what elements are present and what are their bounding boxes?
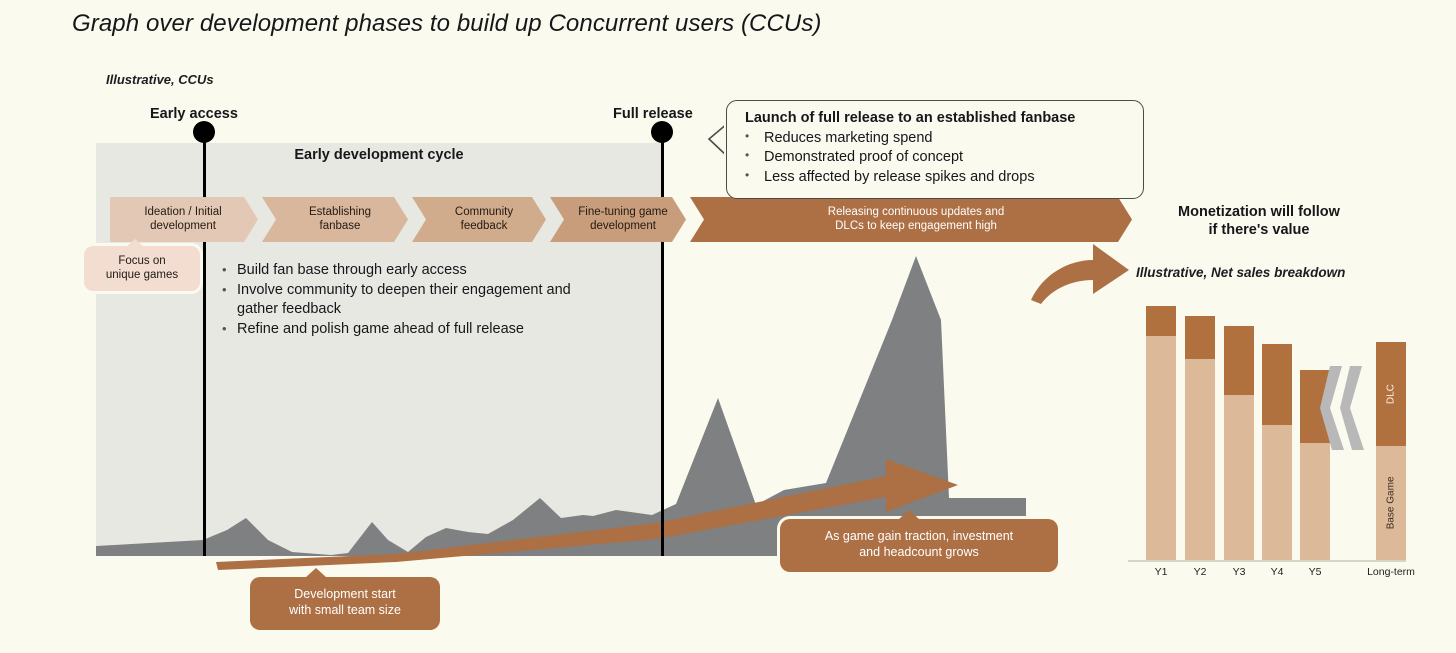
bullet-text: Less affected by release spikes and drop… <box>764 168 1035 187</box>
bar-segment-base-game: Base Game <box>1376 446 1406 560</box>
early-access-marker-dot <box>193 121 215 143</box>
launch-callout-header: Launch of full release to an established… <box>745 110 1129 126</box>
callout-line2: and headcount grows <box>859 545 979 559</box>
bar-segment-dlc <box>1185 316 1215 359</box>
phase-chevron-community-feedback[interactable]: Community feedback <box>412 197 546 242</box>
phase-label-line1: Releasing continuous updates and <box>828 206 1004 218</box>
phase-chevron-ideation[interactable]: Ideation / Initial development <box>110 197 258 242</box>
phase-label-line2: fanbase <box>320 220 361 232</box>
bar-y3 <box>1224 326 1254 560</box>
slide-canvas: Graph over development phases to build u… <box>0 0 1456 653</box>
bullet-text: Demonstrated proof of concept <box>764 148 963 167</box>
bar-y2 <box>1185 316 1215 560</box>
bullet-text: Refine and polish game ahead of full rel… <box>237 320 524 339</box>
phase-chevron-fine-tuning[interactable]: Fine-tuning game development <box>550 197 686 242</box>
list-item: • Reduces marketing spend <box>745 129 1129 148</box>
curved-arrow-icon <box>1025 238 1135 306</box>
bullet-text: Build fan base through early access <box>237 261 467 280</box>
bullet-dot-icon: • <box>745 129 764 148</box>
bar-segment-label-base-game: Base Game <box>1376 446 1406 560</box>
page-title: Graph over development phases to build u… <box>72 10 822 38</box>
development-bullet-list: • Build fan base through early access • … <box>222 261 602 341</box>
ccu-area-path-preaccess <box>96 540 203 556</box>
speech-bubble-tail <box>706 122 728 158</box>
early-development-cycle-label: Early development cycle <box>96 147 662 163</box>
phase-label-line1: Community <box>455 206 513 218</box>
list-item: • Demonstrated proof of concept <box>745 148 1129 167</box>
callout-line1: As game gain traction, investment <box>825 529 1013 543</box>
focus-callout-line1: Focus on <box>118 255 165 267</box>
bullet-dot-icon: • <box>745 168 764 187</box>
traction-investment-callout: As game gain traction, investment and he… <box>780 519 1058 572</box>
bar-y4 <box>1262 344 1292 560</box>
ccu-chart-subtitle: Illustrative, CCUs <box>106 72 214 87</box>
phase-label-line2: feedback <box>461 220 508 232</box>
monetization-title-line1: Monetization will follow <box>1178 204 1340 220</box>
bullet-dot-icon: • <box>745 148 764 167</box>
bar-y1 <box>1146 306 1176 560</box>
early-access-label: Early access <box>150 106 238 122</box>
callout-line1: Development start <box>294 587 395 601</box>
phase-chevron-row: Ideation / Initial development Establish… <box>110 197 1136 242</box>
bar-segment-base-game <box>1224 395 1254 560</box>
net-sales-bar-chart: DLCBase Game <box>1128 300 1406 560</box>
bar-segment-base-game <box>1185 359 1215 560</box>
bar-segment-dlc <box>1262 344 1292 425</box>
callout-line2: with small team size <box>289 603 401 617</box>
monetization-title-line2: if there's value <box>1209 222 1310 238</box>
list-item: • Less affected by release spikes and dr… <box>745 168 1129 187</box>
bar-segment-label-dlc: DLC <box>1376 342 1406 446</box>
list-item: • Refine and polish game ahead of full r… <box>222 320 602 339</box>
development-start-callout: Development start with small team size <box>250 577 440 630</box>
bar-segment-dlc <box>1146 306 1176 336</box>
phase-label-line1: Ideation / Initial <box>144 206 221 218</box>
bar-segment-base-game <box>1262 425 1292 560</box>
list-item: • Involve community to deepen their enga… <box>222 281 602 319</box>
launch-callout-bubble: Launch of full release to an established… <box>726 100 1144 199</box>
full-release-marker-line <box>661 131 664 556</box>
bar-chart-baseline <box>1128 560 1406 562</box>
bar-label-y5: Y5 <box>1282 566 1348 578</box>
full-release-label: Full release <box>613 106 693 122</box>
monetization-title: Monetization will follow if there's valu… <box>1128 203 1390 240</box>
bar-segment-dlc: DLC <box>1376 342 1406 446</box>
phase-chevron-continuous-updates[interactable]: Releasing continuous updates and DLCs to… <box>690 197 1132 242</box>
phase-label-line2: DLCs to keep engagement high <box>835 220 997 232</box>
bar-segment-base-game <box>1146 336 1176 560</box>
bullet-text: Reduces marketing spend <box>764 129 932 148</box>
phase-label-line2: development <box>150 220 216 232</box>
bar-long-term: DLCBase Game <box>1376 342 1406 560</box>
phase-label-line1: Establishing <box>309 206 371 218</box>
bullet-text: Involve community to deepen their engage… <box>237 281 602 319</box>
bar-segment-base-game <box>1300 443 1330 560</box>
phase-chevron-establishing-fanbase[interactable]: Establishing fanbase <box>262 197 408 242</box>
full-release-marker-dot <box>651 121 673 143</box>
bar-segment-dlc <box>1224 326 1254 395</box>
bullet-dot-icon: • <box>222 261 237 280</box>
monetization-subtitle: Illustrative, Net sales breakdown <box>1136 265 1345 280</box>
early-access-marker-line <box>203 131 206 556</box>
focus-callout-line2: unique games <box>106 269 178 281</box>
focus-unique-games-callout: Focus on unique games <box>84 246 200 291</box>
axis-break-chevron-icon <box>1318 362 1364 454</box>
phase-label-line1: Fine-tuning game <box>578 206 668 218</box>
phase-label-line2: development <box>590 220 656 232</box>
bar-label-long-term: Long-term <box>1358 566 1424 578</box>
list-item: • Build fan base through early access <box>222 261 602 280</box>
bullet-dot-icon: • <box>222 320 237 339</box>
bullet-dot-icon: • <box>222 281 237 319</box>
